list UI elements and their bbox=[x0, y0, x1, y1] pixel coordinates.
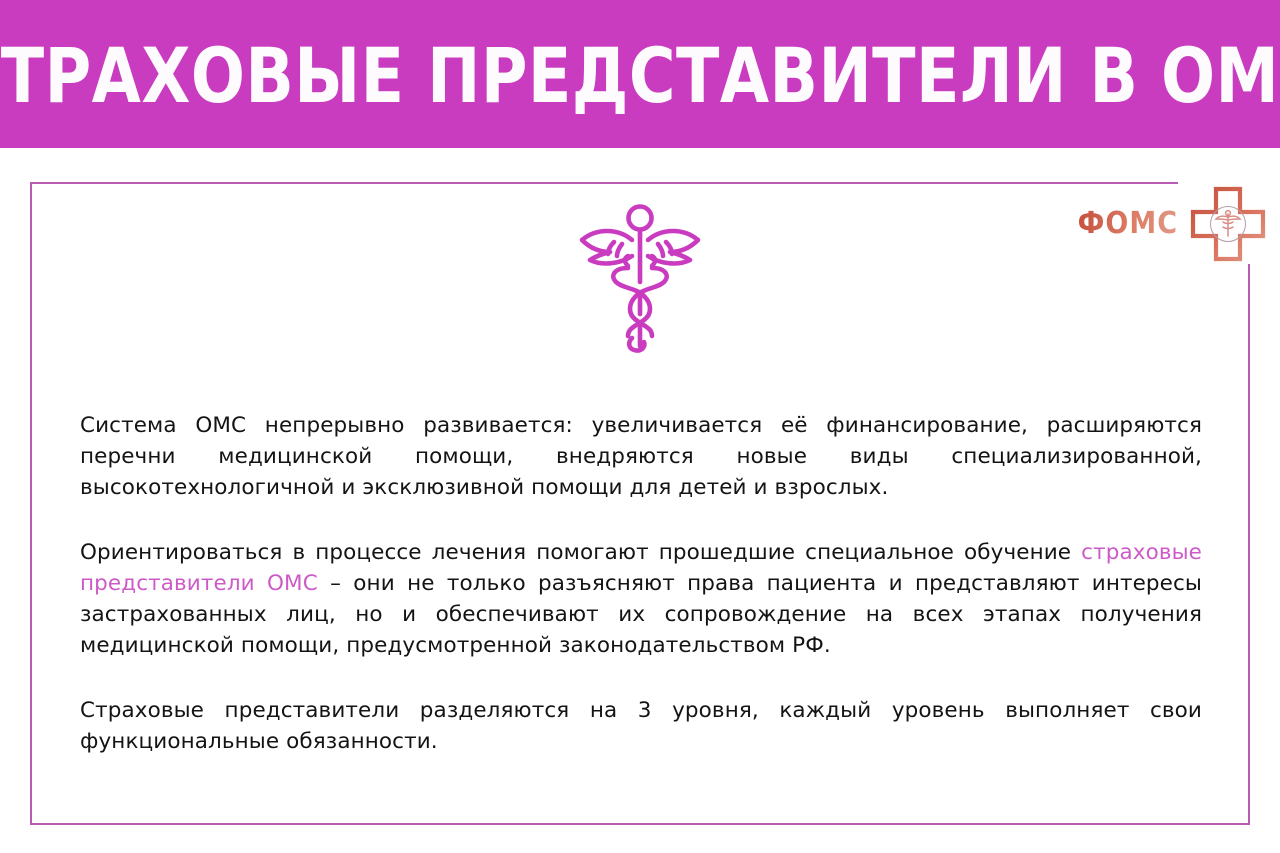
body-text-block: Система ОМС непрерывно развивается: увел… bbox=[80, 410, 1202, 757]
medical-cross-icon bbox=[1190, 186, 1266, 262]
foms-wordmark: ФОМС bbox=[1078, 209, 1178, 239]
caduceus-icon bbox=[566, 196, 714, 354]
paragraph-2: Ориентироваться в процессе лечения помог… bbox=[80, 537, 1202, 661]
paragraph-2-text-lead: Ориентироваться в процессе лечения помог… bbox=[80, 540, 1081, 565]
paragraph-3-text: Страховые представители разделяются на 3… bbox=[80, 698, 1202, 754]
page-title: СТРАХОВЫЕ ПРЕДСТАВИТЕЛИ В ОМС bbox=[0, 38, 1280, 114]
paragraph-1: Система ОМС непрерывно развивается: увел… bbox=[80, 410, 1202, 503]
paragraph-3: Страховые представители разделяются на 3… bbox=[80, 695, 1202, 757]
header-banner: СТРАХОВЫЕ ПРЕДСТАВИТЕЛИ В ОМС bbox=[0, 0, 1280, 148]
foms-logo: ФОМС bbox=[1078, 186, 1266, 262]
paragraph-1-text: Система ОМС непрерывно развивается: увел… bbox=[80, 413, 1202, 500]
